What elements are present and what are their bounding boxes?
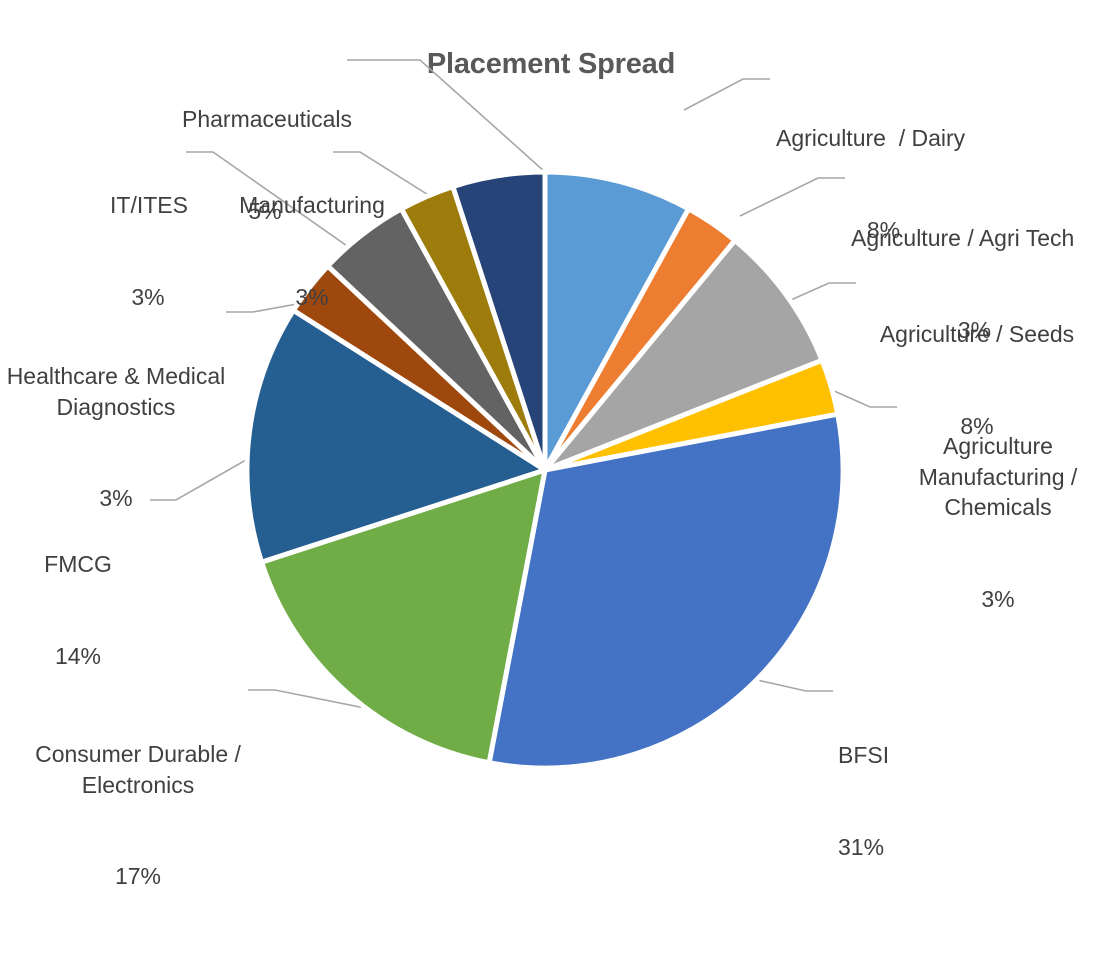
slice-label-value: 3% (6, 483, 226, 514)
slice-label-name: Agriculture / Agri Tech (851, 223, 1101, 254)
slice-label-agriculture-manufacturing-chemicals: Agriculture Manufacturing / Chemicals 3% (902, 370, 1094, 676)
slice-label-it-ites: IT/ITES 3% (110, 129, 186, 374)
slice-label-value: 3% (902, 584, 1094, 615)
slice-label-name: Agriculture / Seeds (862, 319, 1092, 350)
slice-label-value: 31% (838, 832, 1038, 863)
slice-label-value: 14% (10, 641, 146, 672)
slice-label-name: IT/ITES (110, 190, 186, 221)
slice-label-name: Pharmaceuticals (182, 104, 348, 135)
slice-label-name: Agriculture / Dairy (776, 123, 1096, 154)
leader-line-dairy (684, 79, 770, 110)
slice-label-name: Agriculture Manufacturing / Chemicals (902, 431, 1094, 523)
pie-chart: Placement Spread Agriculture / Dairy 8%A… (0, 0, 1102, 818)
slice-label-value: 5% (182, 196, 348, 227)
slice-label-value: 3% (110, 282, 186, 313)
slice-label-name: Consumer Durable / Electronics (28, 739, 248, 800)
slice-label-pharmaceuticals: Pharmaceuticals 5% (182, 43, 348, 288)
slice-label-name: BFSI (838, 740, 1038, 771)
slice-label-value: 17% (28, 861, 248, 892)
slice-label-bfsi: BFSI 31% (838, 679, 1038, 924)
